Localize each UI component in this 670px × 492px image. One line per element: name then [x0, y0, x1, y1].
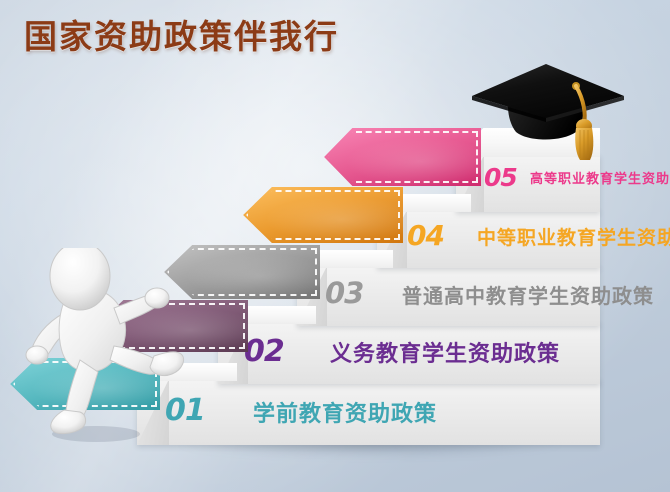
climbing-figure	[18, 248, 208, 448]
arrow-banner-05[interactable]	[324, 128, 481, 186]
poster-canvas: 国家资助政策伴我行 01 学前教育资助政策 02 义务教育学生资助政策 03 普…	[0, 0, 670, 492]
arrow-banner-04[interactable]	[243, 187, 403, 243]
arrow-05-fill	[324, 128, 481, 186]
step-03-number: 03	[325, 276, 363, 310]
step-04[interactable]: 04 中等职业教育学生资助政策	[377, 210, 600, 268]
cap-board	[472, 64, 624, 118]
figure-back-leg	[51, 360, 98, 434]
step-02-number: 02	[244, 334, 284, 369]
step-02-label: 义务教育学生资助政策	[330, 336, 560, 368]
graduation-cap-icon	[466, 56, 636, 162]
step-05-number: 05	[484, 163, 517, 192]
arrow-04-fill	[243, 187, 403, 243]
page-title: 国家资助政策伴我行	[24, 10, 339, 58]
step-05-label: 高等职业教育学生资助政策	[530, 168, 670, 187]
figure-head	[50, 248, 110, 310]
step-02[interactable]: 02 义务教育学生资助政策	[218, 322, 600, 384]
step-03-label: 普通高中教育学生资助政策	[402, 280, 654, 309]
figure-front-leg	[110, 346, 184, 376]
step-04-label: 中等职业教育学生资助政策	[477, 223, 670, 250]
step-04-number: 04	[407, 219, 444, 252]
figure-front-arm	[114, 288, 169, 324]
step-03[interactable]: 03 普通高中教育学生资助政策	[297, 266, 600, 326]
step-01-label: 学前教育资助政策	[253, 396, 437, 428]
